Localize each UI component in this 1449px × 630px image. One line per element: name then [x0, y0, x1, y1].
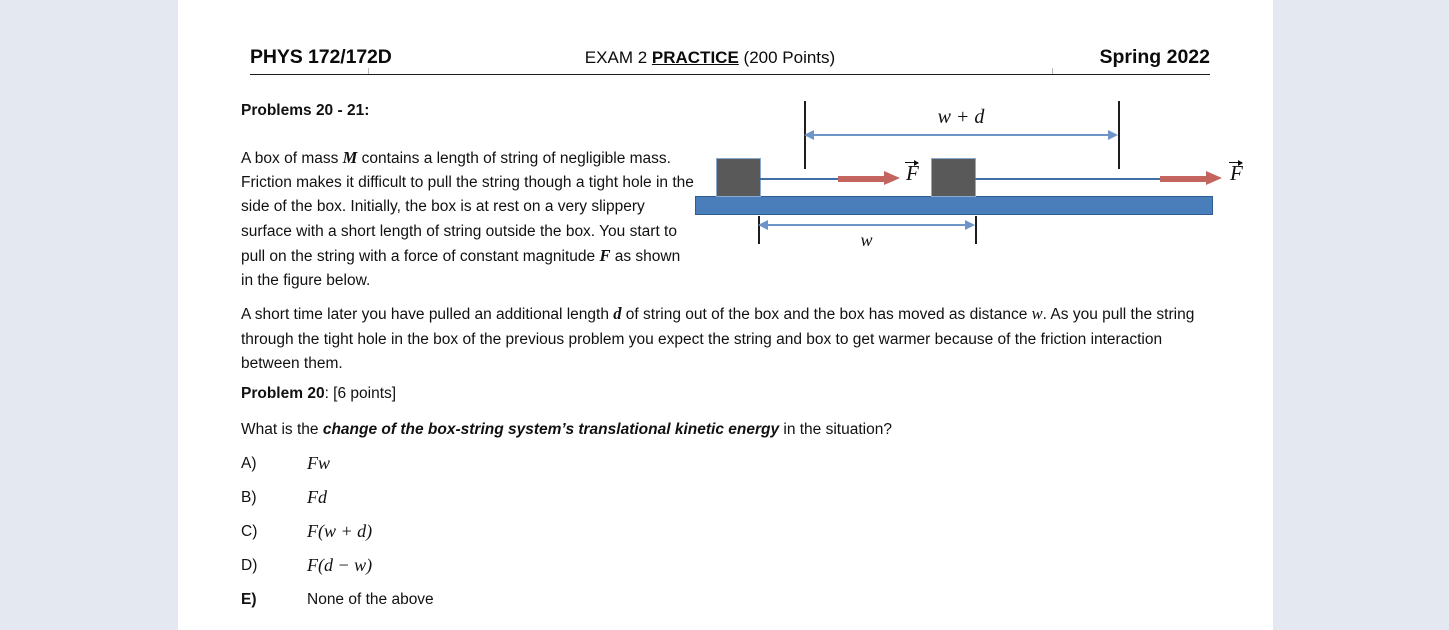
physics-figure: w + d F F w [690, 98, 1225, 250]
para1-part-a: A box of mass [241, 150, 343, 167]
choice-letter-a: A) [241, 455, 257, 473]
vector-arrow-icon: F [1230, 161, 1243, 186]
symbol-mass-M: M [343, 148, 358, 167]
choice-text-a: Fw [307, 453, 330, 474]
vector-arrow-icon: F [906, 161, 919, 186]
dimension-tick-lower-right [975, 216, 977, 244]
force-arrow-shaft [838, 176, 884, 182]
dimension-arrow-lower [758, 220, 975, 230]
choice-letter-e: E) [241, 591, 257, 609]
symbol-length-d: d [613, 304, 621, 323]
para2-part-b: of string out of the box and the box has… [622, 306, 1032, 323]
dimension-arrow-upper [804, 130, 1118, 140]
choice-text-c: F(w + d) [307, 521, 372, 542]
answer-choice-a[interactable]: A) Fw [241, 455, 741, 489]
choice-text-e: None of the above [307, 591, 434, 609]
force-arrow-head-icon [1206, 171, 1222, 185]
question-emphasis: change of the box-string system’s transl… [323, 421, 779, 438]
question-prefix: What is the [241, 421, 323, 438]
string-right [975, 178, 1163, 180]
force-arrow-head-icon [884, 171, 900, 185]
choice-letter-c: C) [241, 523, 257, 541]
problem-statement-paragraph-1: A box of mass M contains a length of str… [241, 146, 696, 293]
answer-choice-d[interactable]: D) F(d − w) [241, 557, 741, 591]
force-label-right: F [1230, 161, 1243, 186]
question-suffix: in the situation? [779, 421, 892, 438]
choice-text-b: Fd [307, 487, 327, 508]
exam-points: (200 Points) [744, 48, 836, 67]
force-arrow-left [838, 171, 900, 185]
answer-choices-list: A) Fw B) Fd C) F(w + d) D) F(d − w) E) N… [241, 455, 741, 625]
problem-20-question: What is the change of the box-string sys… [241, 421, 1201, 439]
para2-part-a: A short time later you have pulled an ad… [241, 306, 613, 323]
symbol-force-F: F [599, 246, 610, 265]
problem-20-label: Problem 20 [241, 385, 325, 402]
string-left [760, 178, 840, 180]
answer-choice-b[interactable]: B) Fd [241, 489, 741, 523]
arrow-head-right-icon [1108, 130, 1118, 140]
force-arrow-shaft [1160, 176, 1206, 182]
problem-20-points: : [6 points] [325, 385, 397, 402]
exam-number: EXAM 2 [585, 48, 647, 67]
arrow-shaft [813, 134, 1109, 136]
problem-statement-paragraph-2: A short time later you have pulled an ad… [241, 302, 1201, 377]
exam-term: Spring 2022 [1052, 46, 1210, 69]
choice-letter-b: B) [241, 489, 257, 507]
force-arrow-right [1160, 171, 1222, 185]
choice-text-d: F(d − w) [307, 555, 372, 576]
arrow-shaft [767, 224, 966, 226]
problem-20-heading: Problem 20: [6 points] [241, 385, 396, 403]
dimension-tick-upper-right [1118, 101, 1120, 169]
exam-header: PHYS 172/172D EXAM 2 PRACTICE (200 Point… [250, 42, 1210, 76]
symbol-distance-w: w [1032, 304, 1043, 323]
exam-title: EXAM 2 PRACTICE (200 Points) [368, 42, 1052, 68]
ground-surface [695, 196, 1213, 215]
force-label-left: F [906, 161, 919, 186]
problems-heading: Problems 20 - 21: [241, 102, 369, 120]
dimension-label-w-plus-d: w + d [804, 106, 1118, 129]
exam-practice-label: PRACTICE [652, 48, 739, 67]
answer-choice-e[interactable]: E) None of the above [241, 591, 741, 625]
box-initial-position [716, 158, 761, 197]
choice-letter-d: D) [241, 557, 257, 575]
document-page: PHYS 172/172D EXAM 2 PRACTICE (200 Point… [178, 0, 1273, 630]
dimension-label-w: w [758, 230, 975, 251]
answer-choice-c[interactable]: C) F(w + d) [241, 523, 741, 557]
arrow-head-right-icon [965, 220, 975, 230]
header-rule [250, 74, 1210, 75]
box-final-position [931, 158, 976, 197]
